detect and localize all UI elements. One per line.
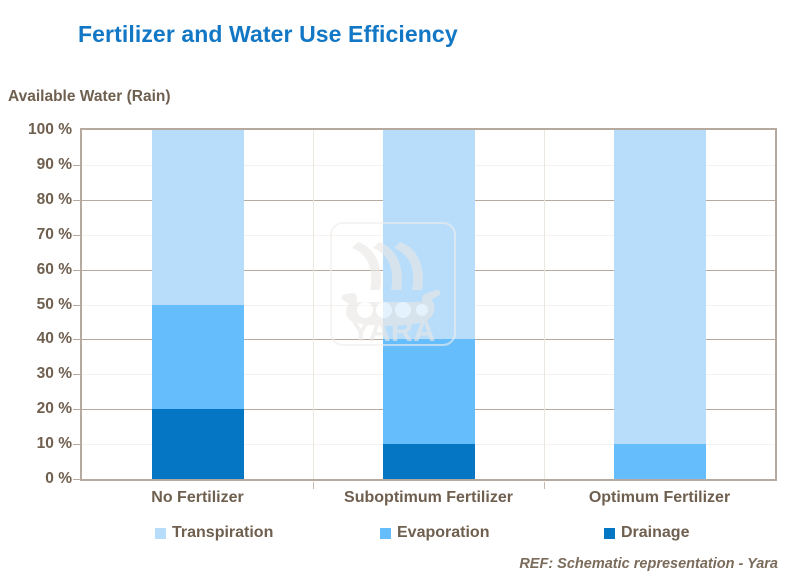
chart-container: Fertilizer and Water Use Efficiency Avai… — [0, 0, 787, 582]
bar-segment-evaporation — [152, 305, 244, 410]
y-axis-tick-label: 10 % — [37, 435, 72, 453]
x-axis-tick-label: Optimum Fertilizer — [520, 489, 787, 507]
x-axis-tick-mark — [544, 482, 545, 489]
bar-segment-transpiration — [152, 130, 244, 305]
y-axis-tick-label: 30 % — [37, 365, 72, 383]
y-axis-tick-mark — [73, 374, 80, 375]
y-axis-tick-label: 50 % — [37, 296, 72, 314]
y-axis-tick-label: 40 % — [37, 330, 72, 348]
legend-item-evaporation[interactable]: Evaporation — [380, 524, 489, 542]
y-axis-tick-mark — [73, 409, 80, 410]
legend-swatch-icon — [155, 528, 166, 539]
chart-legend: TranspirationEvaporationDrainage — [0, 524, 787, 550]
page-title: Fertilizer and Water Use Efficiency — [78, 21, 458, 48]
bar-segment-drainage — [383, 444, 475, 479]
y-axis-tick-mark — [73, 200, 80, 201]
y-axis-tick-mark — [73, 305, 80, 306]
legend-item-drainage[interactable]: Drainage — [604, 524, 689, 542]
bar-segment-evaporation — [614, 444, 706, 479]
plot-inner — [82, 130, 775, 479]
y-axis-tick-mark — [73, 339, 80, 340]
source-footnote: REF: Schematic representation - Yara — [519, 556, 778, 572]
category-separator — [544, 130, 545, 479]
y-axis-title: Available Water (Rain) — [8, 88, 171, 106]
legend-label: Transpiration — [172, 524, 273, 542]
legend-swatch-icon — [380, 528, 391, 539]
category-separator — [313, 130, 314, 479]
y-axis-tick-label: 100 % — [28, 121, 72, 139]
legend-item-transpiration[interactable]: Transpiration — [155, 524, 273, 542]
y-axis-tick-mark — [73, 479, 80, 480]
bar-segment-drainage — [152, 409, 244, 479]
y-axis-tick-mark — [73, 270, 80, 271]
legend-label: Drainage — [621, 524, 689, 542]
y-axis-tick-label: 60 % — [37, 261, 72, 279]
y-axis-tick-label: 20 % — [37, 400, 72, 418]
y-axis-tick-mark — [73, 235, 80, 236]
legend-swatch-icon — [604, 528, 615, 539]
bar-segment-evaporation — [383, 339, 475, 444]
y-axis-tick-label: 70 % — [37, 226, 72, 244]
y-axis-tick-label: 0 % — [45, 470, 72, 488]
y-axis-tick-label: 80 % — [37, 191, 72, 209]
plot-area — [80, 128, 777, 481]
x-axis-tick-mark — [313, 482, 314, 489]
y-axis-tick-mark — [73, 444, 80, 445]
bar-segment-transpiration — [383, 130, 475, 339]
y-axis-tick-mark — [73, 165, 80, 166]
legend-label: Evaporation — [397, 524, 489, 542]
bar-segment-transpiration — [614, 130, 706, 444]
y-axis-tick-label: 90 % — [37, 156, 72, 174]
